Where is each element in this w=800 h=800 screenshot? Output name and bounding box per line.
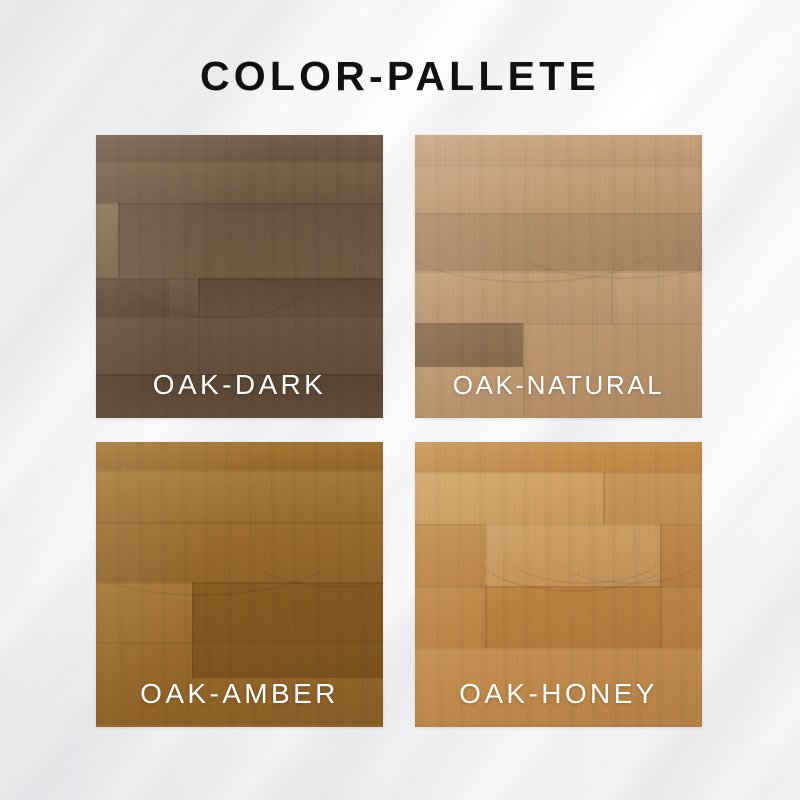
page-title: COLOR-PALLETE [0, 52, 800, 100]
swatch-label-oak-honey: OAK-HONEY [415, 678, 702, 710]
swatch-oak-honey[interactable]: OAK-HONEY [415, 442, 702, 727]
color-palette-poster: COLOR-PALLETE [0, 0, 800, 800]
swatch-label-oak-amber: OAK-AMBER [96, 678, 383, 710]
swatch-label-oak-dark: OAK-DARK [96, 369, 383, 401]
swatch-grid: OAK-DARK [96, 135, 702, 727]
swatch-label-oak-natural: OAK-NATURAL [415, 369, 702, 401]
swatch-oak-amber[interactable]: OAK-AMBER [96, 442, 383, 727]
swatch-oak-dark[interactable]: OAK-DARK [96, 135, 383, 418]
swatch-oak-natural[interactable]: OAK-NATURAL [415, 135, 702, 418]
